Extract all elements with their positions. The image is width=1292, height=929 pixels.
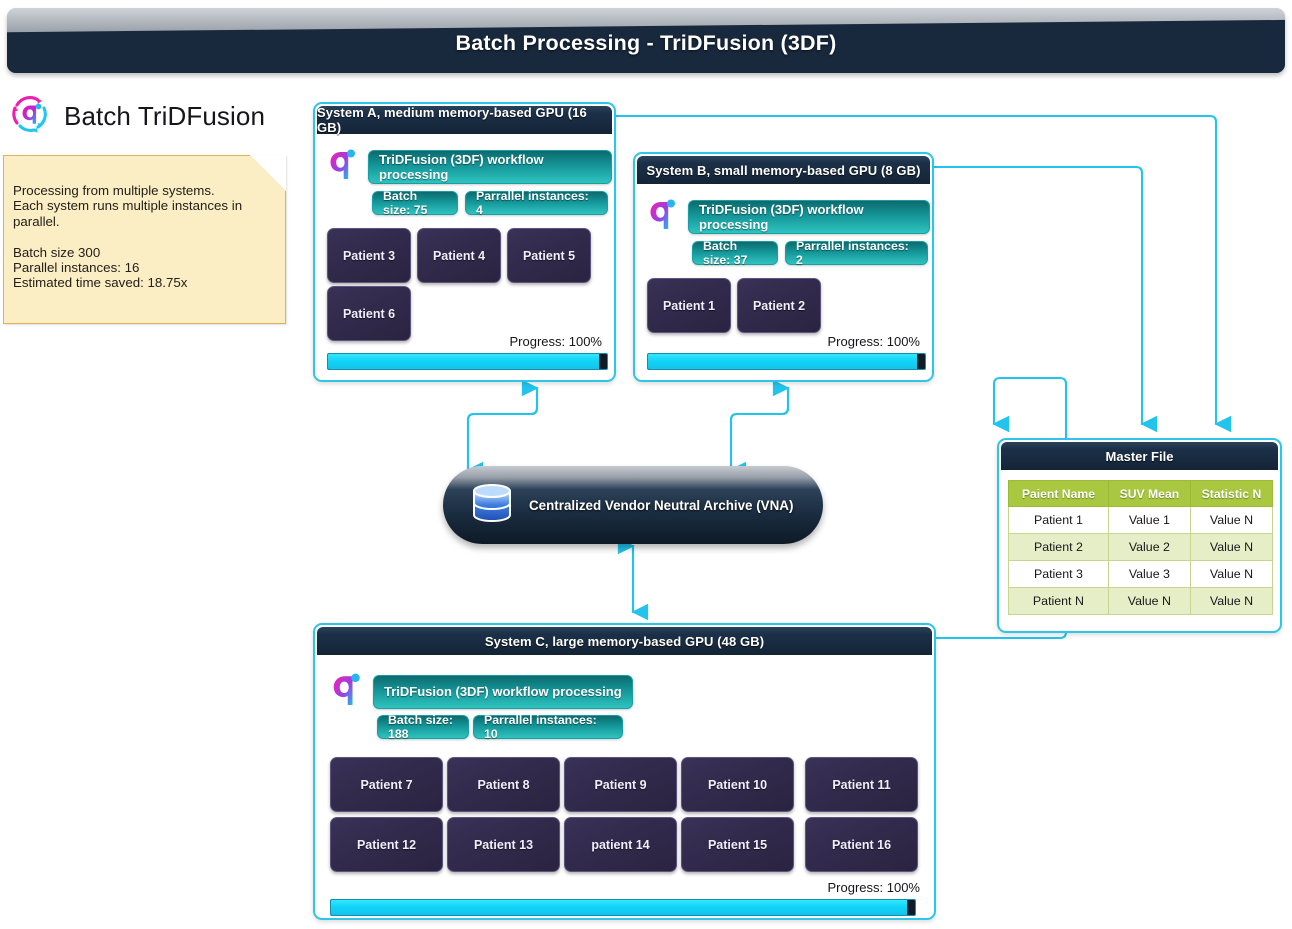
info-note: Processing from multiple systems. Each s…	[3, 155, 286, 324]
progress-fill	[328, 354, 607, 369]
patient-card[interactable]: Patient 3	[327, 228, 411, 283]
table-row[interactable]: Patient 1 Value 1 Value N	[1009, 507, 1273, 534]
master-file-panel[interactable]: Master File Paient Name SUV Mean Statist…	[997, 438, 1282, 633]
wire-vna-to-system-b	[731, 388, 788, 470]
patient-card[interactable]: Patient 9	[564, 757, 677, 812]
wire-vna-to-system-a	[468, 388, 537, 470]
panel-title-system-c: System C, large memory-based GPU (48 GB)	[317, 627, 932, 655]
table-row[interactable]: Patient 2 Value 2 Value N	[1009, 534, 1273, 561]
cell-patient-name: Patient N	[1009, 588, 1109, 615]
cell-suv-mean: Value 2	[1108, 534, 1190, 561]
system-b-batch-size-chip[interactable]: Batch size: 37	[692, 241, 778, 265]
patient-card[interactable]: Patient 2	[737, 278, 821, 333]
system-c-workflow-row: TriDFusion (3DF) workflow processing	[330, 669, 633, 714]
patient-card[interactable]: Patient 1	[647, 278, 731, 333]
system-c-batch-size-chip[interactable]: Batch size: 188	[377, 715, 469, 739]
tridfusion-mark-icon	[647, 196, 679, 237]
wire-system-b-to-master	[934, 167, 1142, 424]
panel-system-c[interactable]: System C, large memory-based GPU (48 GB)…	[313, 623, 936, 920]
patient-card[interactable]: Patient 8	[447, 757, 560, 812]
tridfusion-mark-icon	[327, 146, 359, 187]
vna-node[interactable]: Centralized Vendor Neutral Archive (VNA)	[443, 466, 823, 544]
page-title: Batch Processing - TriDFusion (3DF)	[7, 8, 1285, 73]
panel-body-system-a: TriDFusion (3DF) workflow processing Bat…	[317, 134, 612, 378]
system-a-parallel-chip[interactable]: Parrallel instances: 4	[465, 191, 608, 215]
system-b-parallel-chip[interactable]: Parrallel instances: 2	[785, 241, 928, 265]
diagram-canvas: Batch Processing - TriDFusion (3DF)	[0, 0, 1292, 929]
system-c-progress-label: Progress: 100%	[828, 880, 921, 895]
cell-statistic-n: Value N	[1190, 561, 1272, 588]
patient-card[interactable]: Patient 11	[805, 757, 918, 812]
cell-patient-name: Patient 3	[1009, 561, 1109, 588]
table-header-row: Paient Name SUV Mean Statistic N	[1009, 481, 1273, 507]
wire-system-b-to-vna	[731, 388, 788, 470]
panel-body-system-b: TriDFusion (3DF) workflow processing Bat…	[637, 184, 930, 378]
column-header-patient-name: Paient Name	[1009, 481, 1109, 507]
patient-card[interactable]: Patient 4	[417, 228, 501, 283]
note-text: Processing from multiple systems. Each s…	[13, 183, 275, 291]
cell-suv-mean: Value 1	[1108, 507, 1190, 534]
patient-card[interactable]: Patient 5	[507, 228, 591, 283]
progress-knob	[907, 900, 915, 915]
column-header-suv-mean: SUV Mean	[1108, 481, 1190, 507]
brand-name: Batch TriDFusion	[64, 101, 265, 132]
cell-patient-name: Patient 2	[1009, 534, 1109, 561]
brand: Batch TriDFusion	[8, 92, 265, 141]
system-c-workflow-chip[interactable]: TriDFusion (3DF) workflow processing	[373, 675, 633, 709]
patient-card[interactable]: Patient 15	[681, 817, 794, 872]
cell-suv-mean: Value 3	[1108, 561, 1190, 588]
patient-card[interactable]: Patient 7	[330, 757, 443, 812]
table-row[interactable]: Patient N Value N Value N	[1009, 588, 1273, 615]
progress-knob	[599, 354, 607, 369]
panel-body-system-c: TriDFusion (3DF) workflow processing Bat…	[317, 655, 932, 916]
patient-card[interactable]: patient 14	[564, 817, 677, 872]
progress-fill	[648, 354, 925, 369]
cell-suv-mean: Value N	[1108, 588, 1190, 615]
cell-statistic-n: Value N	[1190, 588, 1272, 615]
patient-card[interactable]: Patient 6	[327, 286, 411, 341]
master-file-table: Paient Name SUV Mean Statistic N Patient…	[1008, 480, 1273, 615]
patient-card[interactable]: Patient 16	[805, 817, 918, 872]
system-a-progress-bar[interactable]	[327, 353, 608, 370]
patient-card[interactable]: Patient 13	[447, 817, 560, 872]
system-c-parallel-chip[interactable]: Parrallel instances: 10	[473, 715, 623, 739]
app-title-bar: Batch Processing - TriDFusion (3DF)	[7, 8, 1285, 73]
patient-card[interactable]: Patient 10	[681, 757, 794, 812]
panel-title-system-a: System A, medium memory-based GPU (16 GB…	[317, 106, 612, 134]
table-row[interactable]: Patient 3 Value 3 Value N	[1009, 561, 1273, 588]
cell-patient-name: Patient 1	[1009, 507, 1109, 534]
system-b-progress-bar[interactable]	[647, 353, 926, 370]
panel-system-b[interactable]: System B, small memory-based GPU (8 GB) …	[633, 152, 934, 382]
cell-statistic-n: Value N	[1190, 534, 1272, 561]
vna-label: Centralized Vendor Neutral Archive (VNA)	[529, 498, 793, 513]
tridfusion-mark-icon	[330, 669, 364, 714]
progress-fill	[331, 900, 915, 915]
master-file-title: Master File	[1001, 442, 1278, 470]
system-a-workflow-chip[interactable]: TriDFusion (3DF) workflow processing	[368, 150, 612, 184]
progress-knob	[917, 354, 925, 369]
system-b-workflow-chip[interactable]: TriDFusion (3DF) workflow processing	[688, 200, 930, 234]
system-a-workflow-row: TriDFusion (3DF) workflow processing	[327, 146, 612, 187]
system-b-progress-label: Progress: 100%	[828, 334, 921, 349]
wire-system-a-to-vna	[468, 388, 537, 470]
patient-card[interactable]: Patient 12	[330, 817, 443, 872]
system-a-progress-label: Progress: 100%	[510, 334, 603, 349]
tridfusion-logo-icon	[8, 92, 52, 141]
system-a-batch-size-chip[interactable]: Batch size: 75	[372, 191, 458, 215]
system-b-workflow-row: TriDFusion (3DF) workflow processing	[647, 196, 930, 237]
cell-statistic-n: Value N	[1190, 507, 1272, 534]
panel-title-system-b: System B, small memory-based GPU (8 GB)	[637, 156, 930, 184]
column-header-statistic-n: Statistic N	[1190, 481, 1272, 507]
panel-system-a[interactable]: System A, medium memory-based GPU (16 GB…	[313, 102, 616, 382]
database-icon	[468, 479, 516, 532]
system-c-progress-bar[interactable]	[330, 899, 916, 916]
